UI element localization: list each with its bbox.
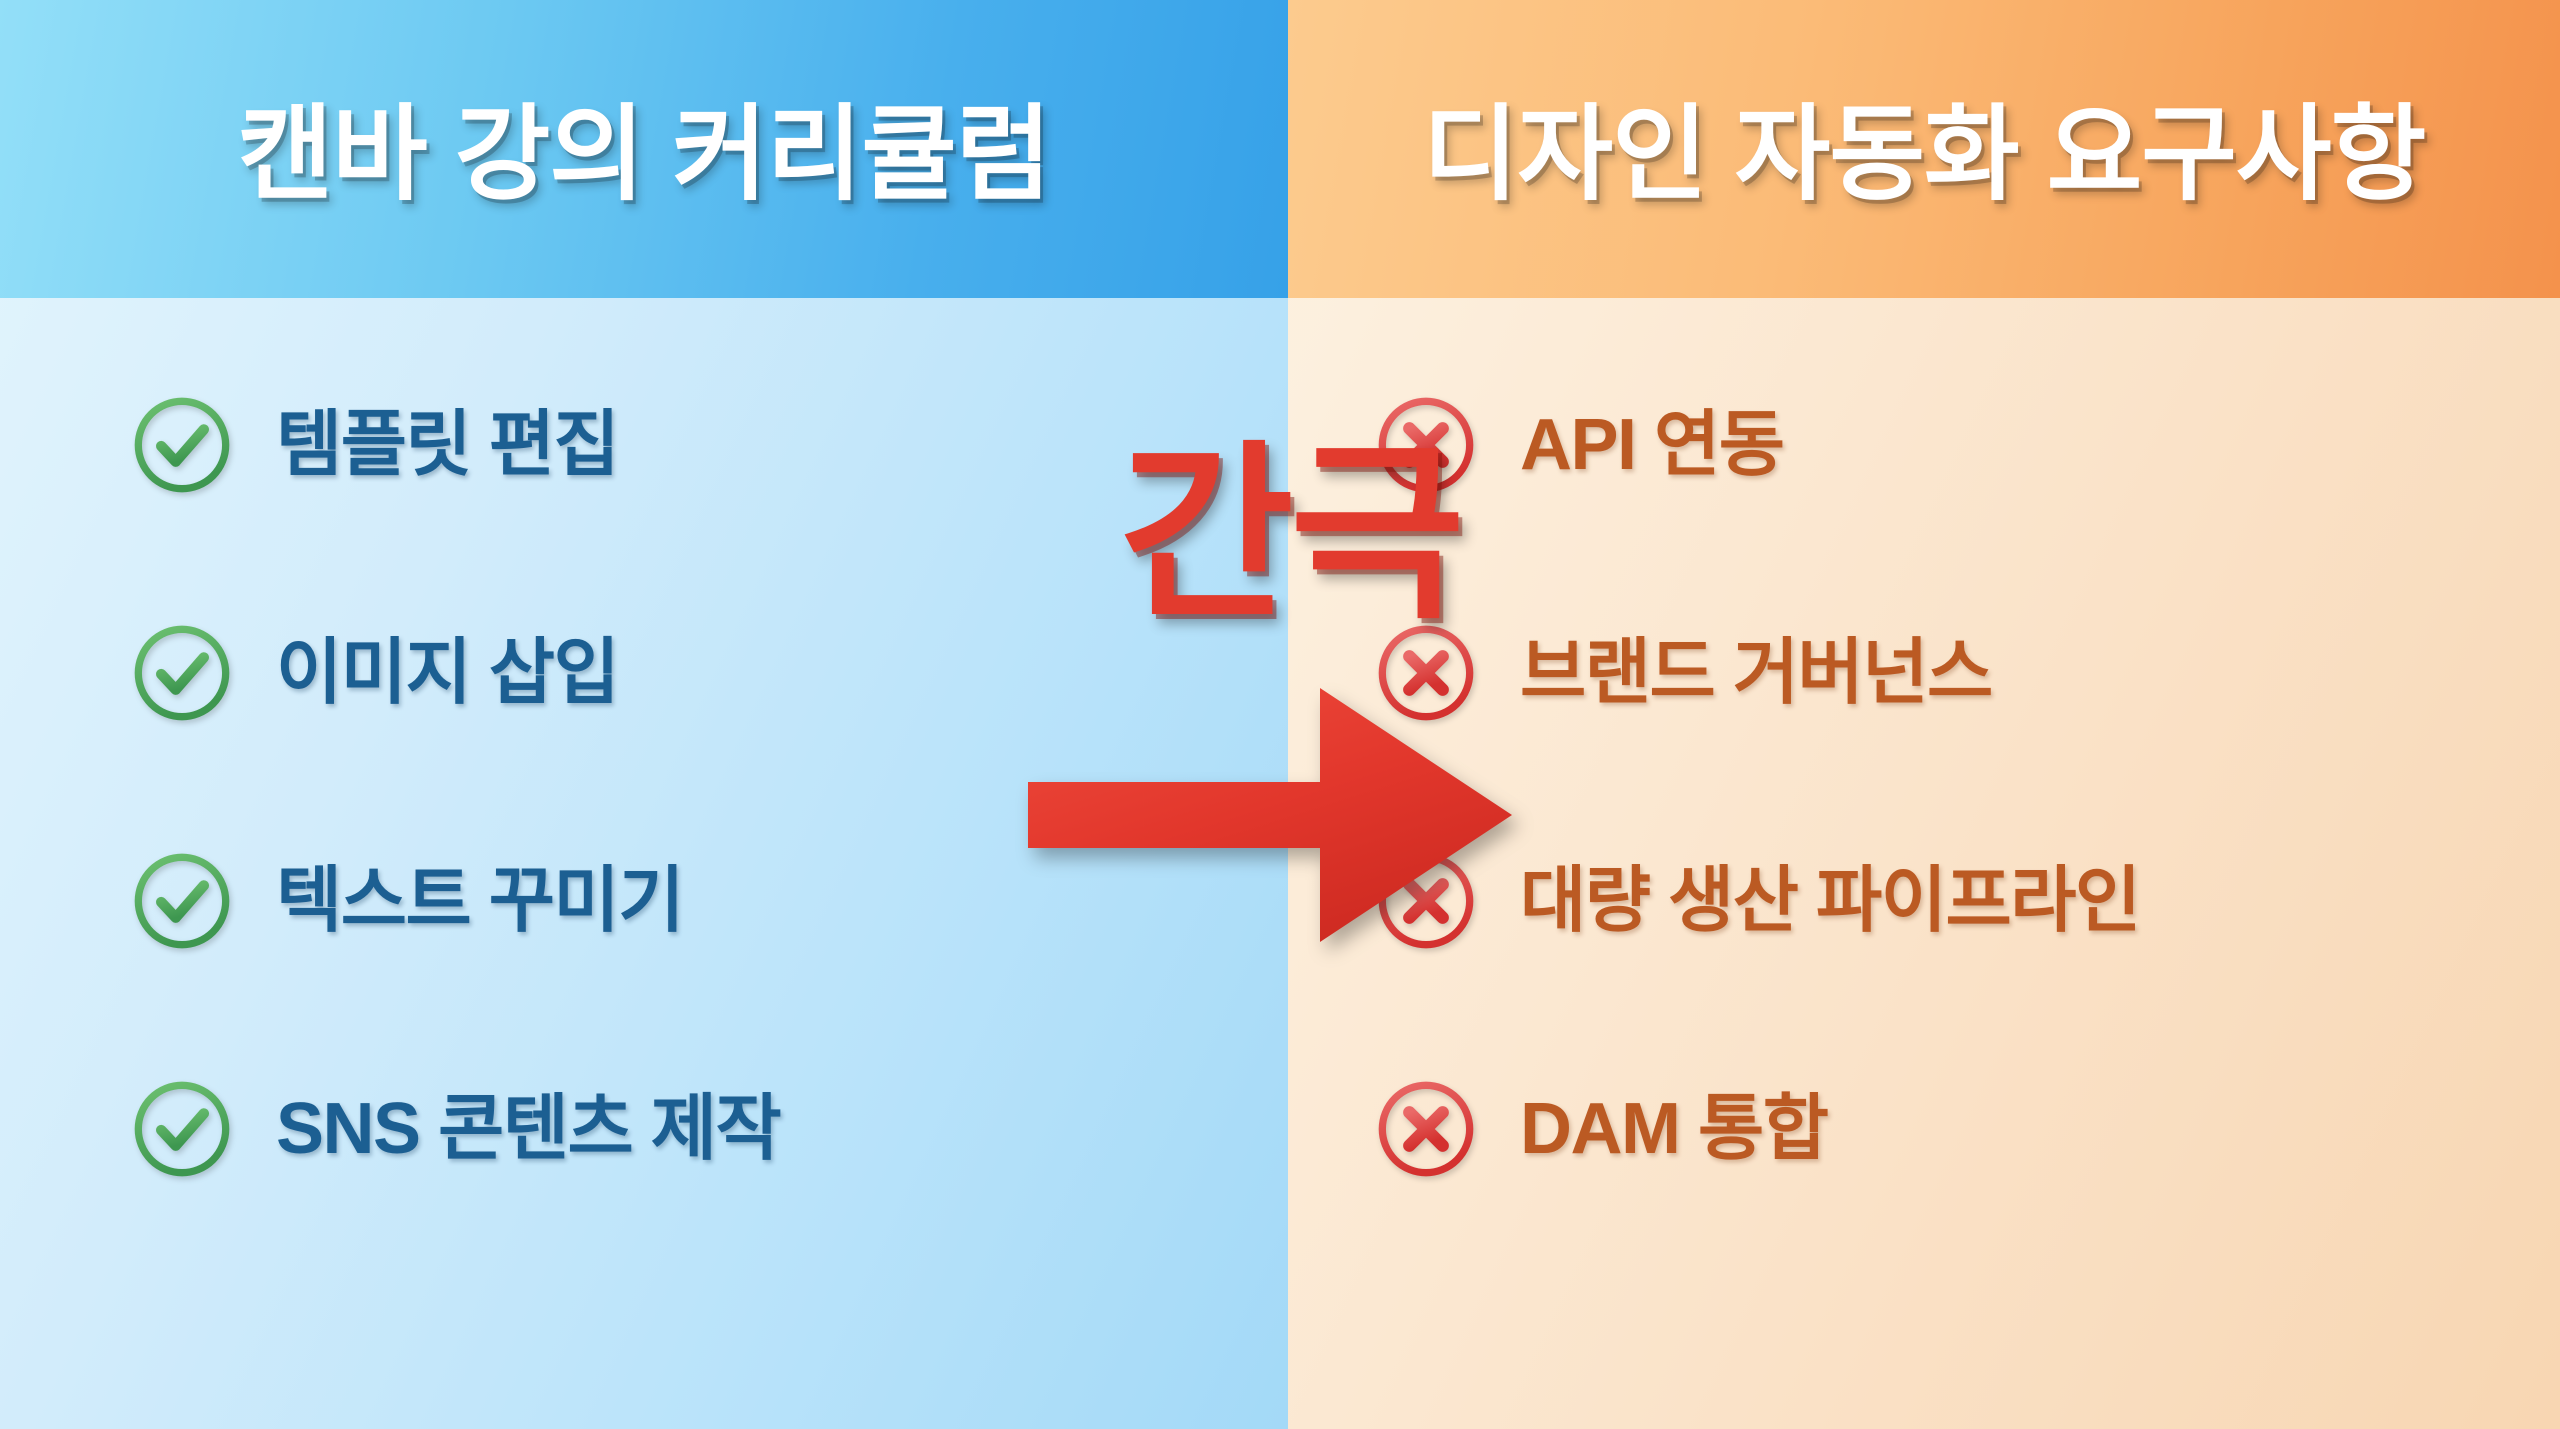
list-item-label: 브랜드 거버넌스 bbox=[1520, 637, 1992, 709]
list-item: 이미지 삽입 bbox=[130, 618, 780, 728]
list-item: API 연동 bbox=[1374, 390, 2140, 500]
list-item-label: API 연동 bbox=[1520, 409, 1784, 481]
list-item-label: SNS 콘텐츠 제작 bbox=[276, 1093, 780, 1165]
list-item-label: 텍스트 꾸미기 bbox=[276, 865, 683, 937]
left-panel-header: 캔바 강의 커리큘럼 bbox=[0, 0, 1288, 298]
right-panel-header: 디자인 자동화 요구사항 bbox=[1288, 0, 2560, 298]
check-circle-icon bbox=[130, 1077, 234, 1181]
right-panel-title: 디자인 자동화 요구사항 bbox=[1423, 103, 2426, 207]
list-item: DAM 통합 bbox=[1374, 1074, 2140, 1184]
check-circle-icon bbox=[130, 393, 234, 497]
list-item: SNS 콘텐츠 제작 bbox=[130, 1074, 780, 1184]
x-circle-icon bbox=[1374, 1077, 1478, 1181]
check-circle-icon bbox=[130, 621, 234, 725]
left-panel-title: 캔바 강의 커리큘럼 bbox=[237, 103, 1050, 207]
list-item-label: 템플릿 편집 bbox=[276, 409, 618, 481]
left-item-list: 템플릿 편집 이미지 삽입 텍스트 꾸미기 bbox=[130, 390, 780, 1184]
check-circle-icon bbox=[130, 849, 234, 953]
list-item-label: 이미지 삽입 bbox=[276, 637, 618, 709]
comparison-slide: 캔바 강의 커리큘럼 템플릿 편집 bbox=[0, 0, 2560, 1429]
right-arrow-icon bbox=[1020, 670, 1520, 960]
list-item-label: DAM 통합 bbox=[1520, 1093, 1827, 1165]
list-item-label: 대량 생산 파이프라인 bbox=[1520, 865, 2140, 937]
x-circle-icon bbox=[1374, 393, 1478, 497]
list-item: 텍스트 꾸미기 bbox=[130, 846, 780, 956]
list-item: 템플릿 편집 bbox=[130, 390, 780, 500]
